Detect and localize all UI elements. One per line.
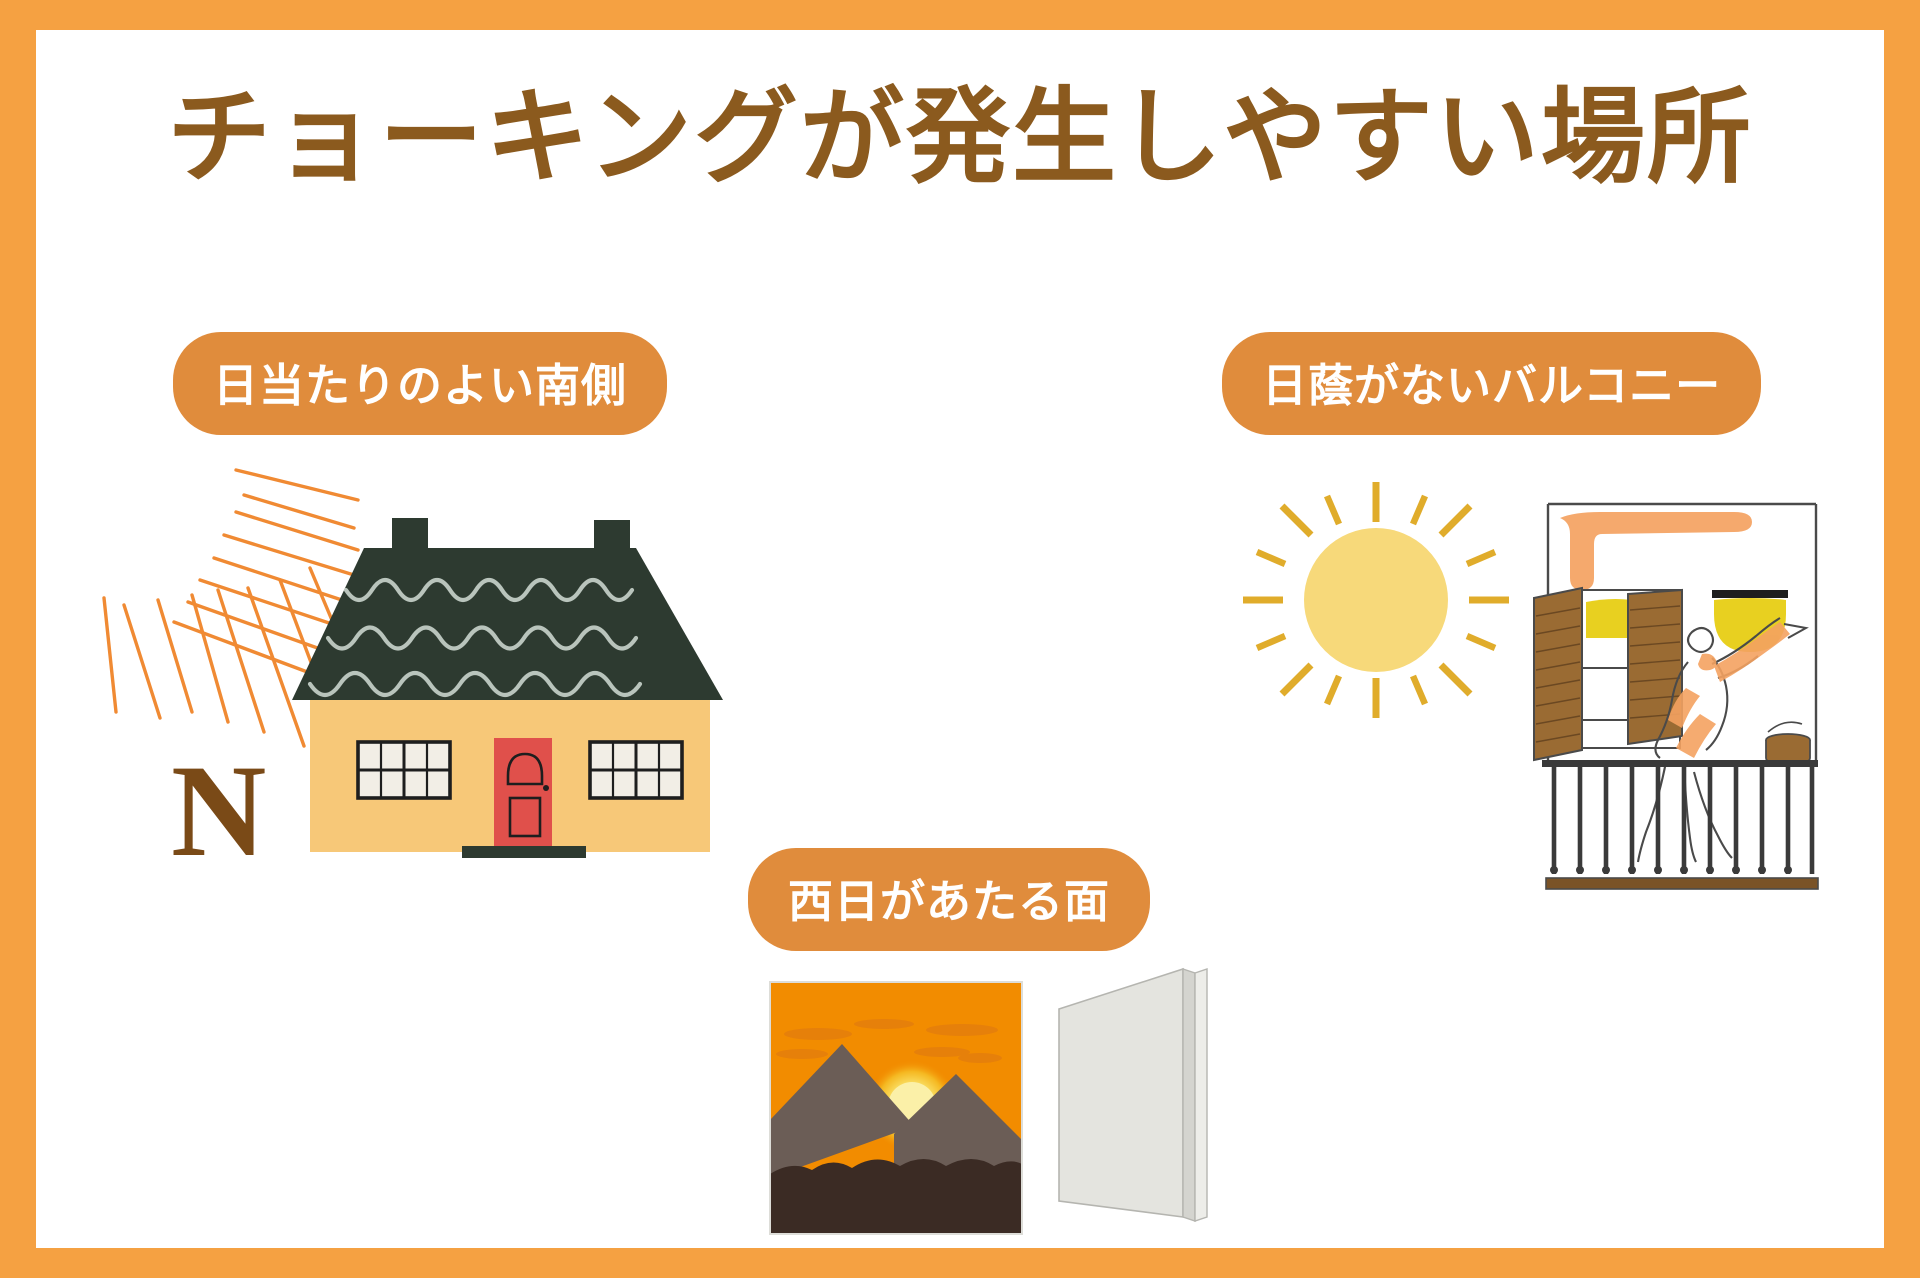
badge-shadeless-balcony: 日蔭がないバルコニー [1222,332,1761,435]
badge-sunny-south-side: 日当たりのよい南側 [173,332,667,435]
sunset-illustration [766,978,1026,1238]
sunset-svg [766,978,1026,1238]
balcony-svg [1516,482,1836,902]
sun-disc [1304,528,1448,672]
page-title: チョーキングが発生しやすい場所 [36,78,1884,198]
window-left [358,742,450,798]
wall-panel-svg [1041,955,1241,1248]
sun-svg [1231,470,1521,730]
door-step [462,846,586,858]
panel-edge-b [1195,969,1207,1221]
house-svg: N [96,450,756,870]
paint-stroke-top [1560,512,1752,590]
panel-face [1059,969,1183,1217]
panel-edge-a [1183,969,1195,1221]
foreground-treeline [770,1159,1022,1234]
wall-panel-illustration [1041,955,1241,1248]
balcony-railing [1542,760,1818,889]
shutter-left [1534,588,1582,760]
balcony-floor [1546,878,1818,889]
compass-north-letter: N [171,737,266,870]
badge-west-facing-surface: 西日があたる面 [748,848,1150,951]
poster-root: チョーキングが発生しやすい場所 日当たりのよい南側 日蔭がないバルコニー 西日が… [0,0,1920,1278]
house-illustration: N [96,450,756,870]
balcony-illustration [1516,482,1836,902]
paint-can [1766,722,1810,764]
poster-canvas: チョーキングが発生しやすい場所 日当たりのよい南側 日蔭がないバルコニー 西日が… [36,30,1884,1248]
roof [292,548,723,700]
sun-illustration [1231,470,1521,730]
window-right [590,742,682,798]
